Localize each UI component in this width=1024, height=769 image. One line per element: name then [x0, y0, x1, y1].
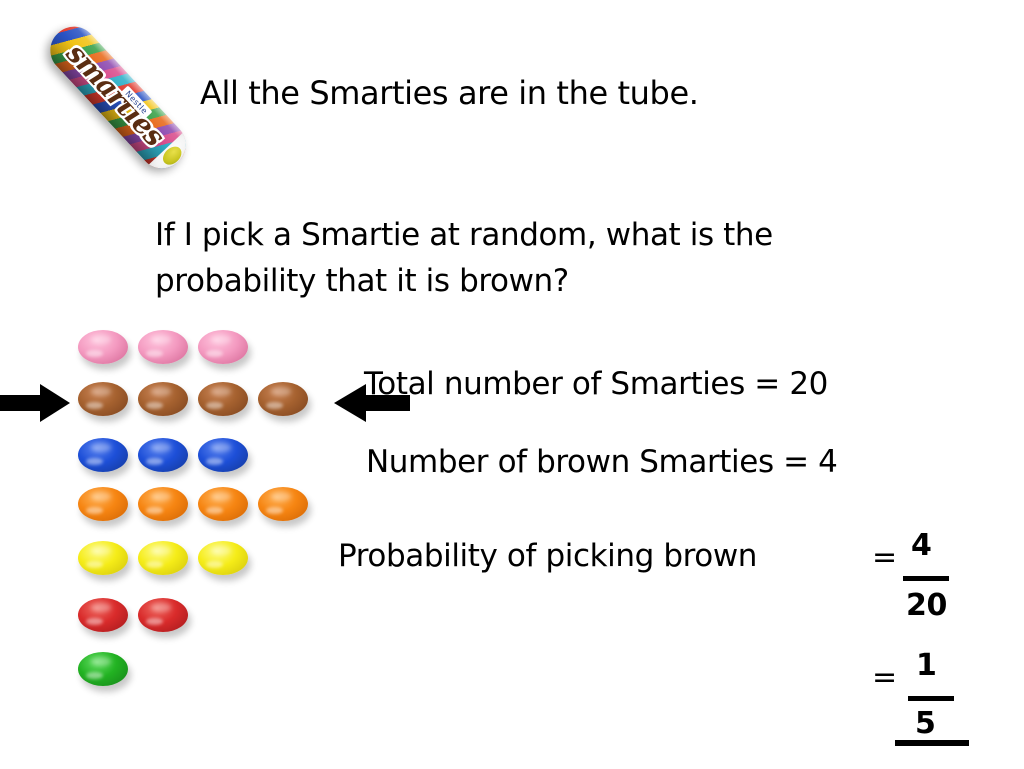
smartie-blue-1	[78, 438, 128, 472]
smartie-pink-2	[138, 330, 188, 364]
fraction-1-numerator: 4	[911, 528, 931, 563]
equals-sign-2: =	[872, 660, 897, 695]
smartie-row-green	[78, 652, 348, 702]
smartie-green-1	[78, 652, 128, 686]
smartie-pink-3	[198, 330, 248, 364]
fraction-2-bar	[908, 696, 954, 701]
total-smarties-text: Total number of Smarties = 20	[364, 366, 828, 402]
brown-smarties-text: Number of brown Smarties = 4	[366, 444, 838, 480]
smartie-blue-2	[138, 438, 188, 472]
smartie-brown-2	[138, 382, 188, 416]
smartie-pink-1	[78, 330, 128, 364]
smartie-orange-4	[258, 487, 308, 521]
smartie-row-brown	[78, 382, 348, 432]
fraction-1-denominator: 20	[906, 588, 947, 623]
smartie-orange-2	[138, 487, 188, 521]
smartie-orange-1	[78, 487, 128, 521]
fraction-2-numerator: 1	[916, 648, 936, 683]
slide-canvas: smarties Nestle All the Smarties are in …	[0, 0, 1024, 769]
smartie-row-red	[78, 598, 348, 648]
smarties-grid	[78, 330, 348, 690]
smartie-row-yellow	[78, 541, 348, 591]
fraction-2-denominator: 5	[915, 706, 935, 741]
smartie-brown-1	[78, 382, 128, 416]
smartie-yellow-2	[138, 541, 188, 575]
heading-text: All the Smarties are in the tube.	[200, 74, 699, 112]
smartie-row-orange	[78, 487, 348, 537]
smartie-row-pink	[78, 330, 348, 380]
smartie-red-2	[138, 598, 188, 632]
smartie-red-1	[78, 598, 128, 632]
bottom-underline-rule	[895, 740, 969, 746]
tube-label-text: smarties	[53, 30, 177, 159]
fraction-1-bar	[903, 576, 949, 581]
smartie-yellow-1	[78, 541, 128, 575]
tube-body: smarties Nestle	[41, 17, 195, 178]
smartie-blue-3	[198, 438, 248, 472]
equals-sign-1: =	[872, 540, 897, 575]
smartie-yellow-3	[198, 541, 248, 575]
smartie-orange-3	[198, 487, 248, 521]
smarties-tube-image: smarties Nestle	[22, 22, 197, 182]
left-arrow-pointing-right-icon	[0, 382, 70, 424]
probability-label-text: Probability of picking brown	[338, 538, 757, 574]
smartie-row-blue	[78, 438, 348, 488]
question-text: If I pick a Smartie at random, what is t…	[155, 212, 915, 304]
smartie-brown-4	[258, 382, 308, 416]
smartie-brown-3	[198, 382, 248, 416]
